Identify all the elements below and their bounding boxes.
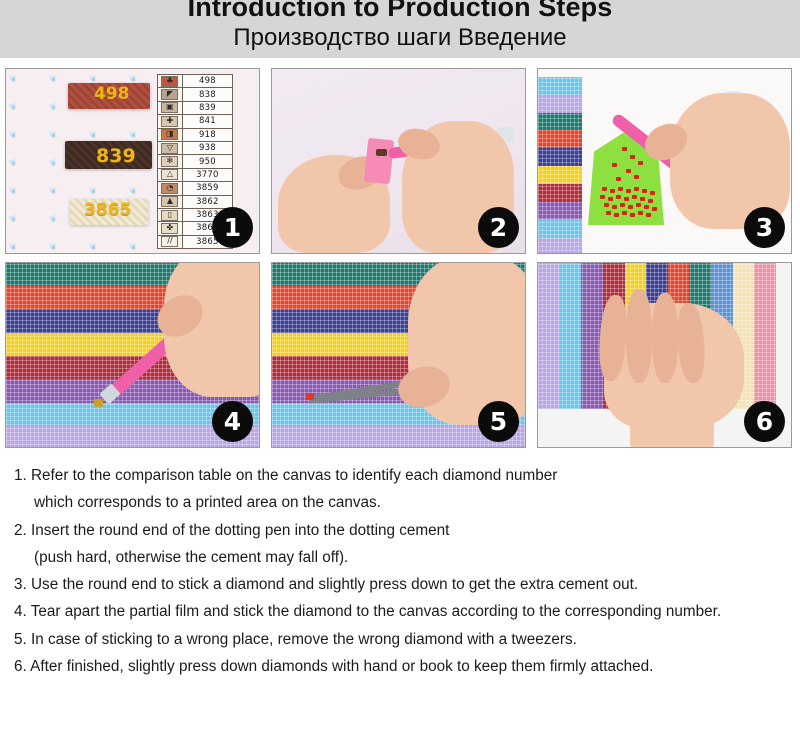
dmc-number-cell: 838: [182, 88, 232, 101]
dmc-number-cell: 841: [182, 115, 232, 128]
red-diamond: [634, 187, 639, 191]
canvas-stripe: [538, 263, 560, 409]
instruction-first-line: 5. In case of sticking to a wrong place,…: [14, 626, 800, 653]
red-diamond: [600, 195, 605, 199]
finger-3: [652, 293, 678, 383]
step-photo-5: 5: [271, 262, 526, 448]
canvas-stripe: [538, 166, 582, 184]
dmc-symbol-cell: ✻: [158, 155, 183, 168]
canvas-stripe: [538, 219, 582, 237]
step-badge-1: 1: [212, 207, 253, 248]
red-diamond: [652, 207, 657, 211]
instruction-sheet: Introduction to Production Steps Произво…: [0, 0, 800, 748]
instruction-step: 6. After finished, slightly press down d…: [0, 653, 800, 680]
red-diamond: [648, 199, 653, 203]
dmc-number-cell: 3862: [182, 195, 232, 208]
red-diamond: [638, 211, 643, 215]
canvas-stripe: [754, 263, 776, 409]
dmc-symbol-cell: ◔: [158, 182, 183, 195]
red-diamond: [604, 203, 609, 207]
striped-canvas-sample: [538, 77, 582, 253]
dmc-table-row: ▽938: [158, 141, 233, 154]
dmc-table-row: ▲3862: [158, 195, 233, 208]
red-diamond: [630, 155, 635, 159]
wrist: [630, 409, 714, 447]
canvas-stripe: [538, 77, 582, 95]
dmc-number-cell: 938: [182, 141, 232, 154]
step-badge-3: 3: [744, 207, 785, 248]
dmc-symbol-cell: △: [158, 168, 183, 181]
step-photo-2: 2: [271, 68, 526, 254]
instruction-first-line: 1. Refer to the comparison table on the …: [14, 462, 800, 489]
red-diamond: [616, 195, 621, 199]
canvas-stripe: [538, 202, 582, 220]
dotting-cement: [364, 138, 394, 184]
dmc-symbol-cell: //: [158, 235, 183, 248]
red-diamond: [638, 161, 643, 165]
red-diamond: [608, 197, 613, 201]
canvas-stripe: [560, 263, 582, 409]
dmc-symbol-cell: ◨: [158, 128, 183, 141]
red-diamond: [606, 211, 611, 215]
red-diamond: [612, 163, 617, 167]
diamond-on-tip: [94, 399, 103, 407]
dmc-symbol-cell: ▽: [158, 141, 183, 154]
dmc-symbol-cell: ▲: [158, 195, 183, 208]
removed-diamond: [306, 393, 314, 400]
red-diamond: [622, 211, 627, 215]
cement-hole: [376, 149, 387, 156]
page-title-russian: Производство шаги Введение: [0, 24, 800, 52]
canvas-stripe: [538, 95, 582, 113]
instruction-step: 2. Insert the round end of the dotting p…: [0, 517, 800, 572]
instruction-first-line: 3. Use the round end to stick a diamond …: [14, 571, 800, 598]
dmc-table-row: △3770: [158, 168, 233, 181]
instruction-step: 3. Use the round end to stick a diamond …: [0, 571, 800, 598]
diamond-bag-label-498: 498: [94, 84, 130, 104]
step-badge-2: 2: [478, 207, 519, 248]
red-diamond: [644, 205, 649, 209]
step-photo-1: ❦❦❦❦❦❦❦❦❦❦❦❦❦❦❦❦❦❦❦❦❦❦❦❦❦❦❦❦ 498 839 386…: [5, 68, 260, 254]
step-photo-4: 4: [5, 262, 260, 448]
dmc-table-row: ✻950: [158, 155, 233, 168]
red-diamond: [620, 203, 625, 207]
instruction-first-line: 6. After finished, slightly press down d…: [14, 653, 800, 680]
red-diamond: [624, 197, 629, 201]
red-diamond: [640, 197, 645, 201]
red-diamond: [622, 147, 627, 151]
instruction-continuation-line: which corresponds to a printed area on t…: [14, 489, 800, 516]
red-diamond: [610, 189, 615, 193]
dmc-number-cell: 918: [182, 128, 232, 141]
red-diamond: [616, 177, 621, 181]
canvas-stripe: [538, 237, 582, 253]
canvas-stripe: [538, 184, 582, 202]
instruction-first-line: 2. Insert the round end of the dotting p…: [14, 517, 800, 544]
red-diamond: [642, 189, 647, 193]
dmc-table-row: ◔3859: [158, 182, 233, 195]
step-photo-3: 3: [537, 68, 792, 254]
instruction-continuation-line: (push hard, otherwise the cement may fal…: [14, 544, 800, 571]
canvas-stripe: [538, 130, 582, 148]
red-diamond: [634, 175, 639, 179]
red-diamond: [650, 191, 655, 195]
dmc-table-row: ✚841: [158, 115, 233, 128]
dmc-number-cell: 3770: [182, 168, 232, 181]
finger-2: [626, 289, 652, 383]
instruction-first-line: 4. Tear apart the partial film and stick…: [14, 598, 800, 625]
dmc-table-row: ◤838: [158, 88, 233, 101]
dmc-number-cell: 950: [182, 155, 232, 168]
red-diamond: [626, 169, 631, 173]
instructions-list: 1. Refer to the comparison table on the …: [0, 462, 800, 680]
dmc-number-cell: 3859: [182, 182, 232, 195]
diamond-bag-label-3865: 3865: [84, 200, 131, 220]
step-badge-6: 6: [744, 401, 785, 442]
instruction-step: 1. Refer to the comparison table on the …: [0, 462, 800, 517]
red-diamond: [630, 213, 635, 217]
canvas-stripe: [538, 148, 582, 166]
red-diamond: [646, 213, 651, 217]
dmc-symbol-cell: ◤: [158, 88, 183, 101]
page-title-english: Introduction to Production Steps: [0, 0, 800, 23]
dmc-symbol-cell: ♣: [158, 75, 183, 88]
dmc-table-row: ◨918: [158, 128, 233, 141]
page-header: Introduction to Production Steps Произво…: [0, 0, 800, 58]
dmc-symbol-cell: ✚: [158, 115, 183, 128]
dmc-number-cell: 498: [182, 75, 232, 88]
instruction-step: 4. Tear apart the partial film and stick…: [0, 598, 800, 625]
steps-photo-grid: ❦❦❦❦❦❦❦❦❦❦❦❦❦❦❦❦❦❦❦❦❦❦❦❦❦❦❦❦ 498 839 386…: [5, 68, 795, 450]
red-diamond: [632, 195, 637, 199]
red-diamond: [612, 205, 617, 209]
red-diamond: [614, 213, 619, 217]
red-diamond: [602, 187, 607, 191]
step-badge-4: 4: [212, 401, 253, 442]
step-badge-5: 5: [478, 401, 519, 442]
dmc-symbol-cell: ▣: [158, 101, 183, 114]
dmc-table-row: ♣498: [158, 75, 233, 88]
red-diamond: [636, 203, 641, 207]
red-diamond: [618, 187, 623, 191]
step-photo-6: 6: [537, 262, 792, 448]
dmc-symbol-cell: ✤: [158, 222, 183, 235]
dmc-symbol-cell: ▯: [158, 208, 183, 221]
dmc-number-cell: 839: [182, 101, 232, 114]
instruction-step: 5. In case of sticking to a wrong place,…: [0, 626, 800, 653]
dmc-table-row: ▣839: [158, 101, 233, 114]
canvas-stripe: [538, 113, 582, 131]
red-diamond: [628, 205, 633, 209]
diamond-bag-label-839: 839: [96, 145, 136, 167]
red-diamond: [626, 189, 631, 193]
